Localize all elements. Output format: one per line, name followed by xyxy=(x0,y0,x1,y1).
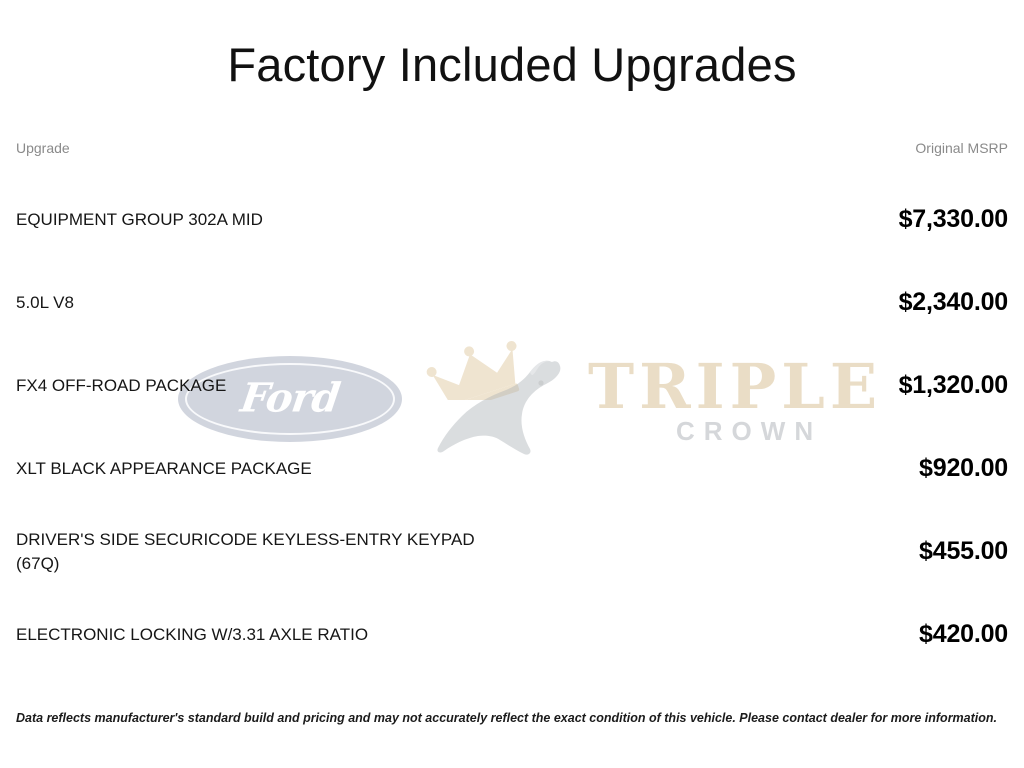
table-header-row: Upgrade Original MSRP xyxy=(16,140,1008,158)
upgrade-price: $2,340.00 xyxy=(899,288,1008,317)
column-header-original-msrp: Original MSRP xyxy=(915,140,1008,156)
table-row: EQUIPMENT GROUP 302A MID $7,330.00 xyxy=(16,178,1008,261)
upgrade-price: $420.00 xyxy=(919,620,1008,649)
table-row: FX4 OFF-ROAD PACKAGE $1,320.00 xyxy=(16,344,1008,427)
table-row: DRIVER'S SIDE SECURICODE KEYLESS-ENTRY K… xyxy=(16,510,1008,593)
upgrade-name: ELECTRONIC LOCKING W/3.31 AXLE RATIO xyxy=(16,623,368,646)
upgrade-name: FX4 OFF-ROAD PACKAGE xyxy=(16,374,226,397)
page-title: Factory Included Upgrades xyxy=(16,0,1008,92)
upgrade-name: XLT BLACK APPEARANCE PACKAGE xyxy=(16,457,312,480)
upgrade-price: $7,330.00 xyxy=(899,205,1008,234)
column-header-upgrade: Upgrade xyxy=(16,140,70,156)
content-area: Factory Included Upgrades Upgrade Origin… xyxy=(0,0,1024,768)
upgrades-page: Ford TRIPLE CROWN Factory xyxy=(0,0,1024,768)
upgrade-name: DRIVER'S SIDE SECURICODE KEYLESS-ENTRY K… xyxy=(16,528,475,575)
upgrade-name: EQUIPMENT GROUP 302A MID xyxy=(16,208,263,231)
upgrade-price: $1,320.00 xyxy=(899,371,1008,400)
upgrade-name: 5.0L V8 xyxy=(16,291,74,314)
table-row: ELECTRONIC LOCKING W/3.31 AXLE RATIO $42… xyxy=(16,593,1008,676)
table-row: 5.0L V8 $2,340.00 xyxy=(16,261,1008,344)
table-row: XLT BLACK APPEARANCE PACKAGE $920.00 xyxy=(16,427,1008,510)
upgrade-price: $455.00 xyxy=(919,537,1008,566)
upgrades-list: EQUIPMENT GROUP 302A MID $7,330.00 5.0L … xyxy=(16,178,1008,676)
upgrade-price: $920.00 xyxy=(919,454,1008,483)
disclaimer-text: Data reflects manufacturer's standard bu… xyxy=(16,710,1008,726)
